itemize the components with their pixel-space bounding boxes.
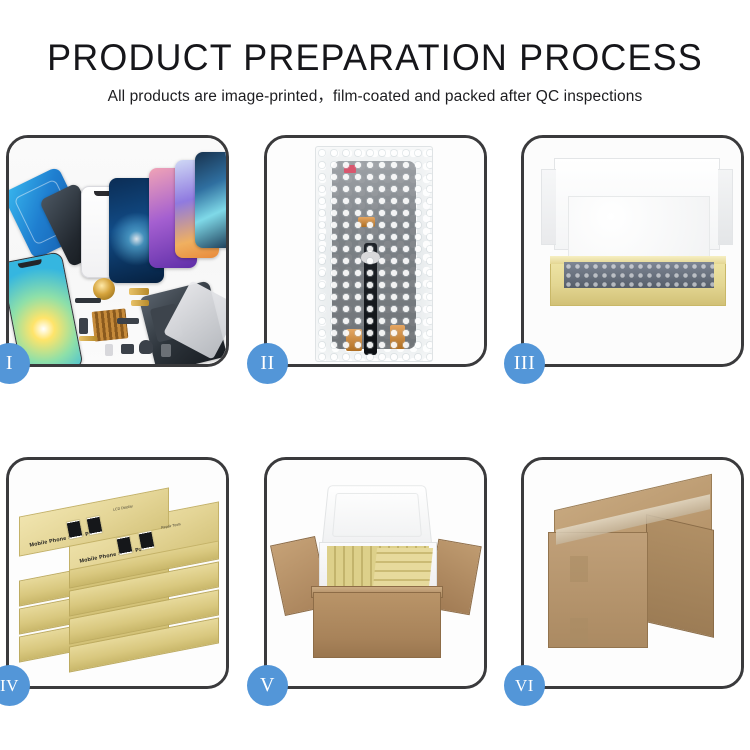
step-4-image: Mobile Phone Spare Parts Mobile Phone Sp…: [9, 460, 226, 686]
bubble-contents-icon: [564, 262, 714, 288]
step-panel-6: VI: [521, 457, 744, 689]
part-battery-icon: [161, 344, 171, 357]
step-6-image: [524, 460, 741, 686]
carton-side-icon: [646, 514, 714, 638]
yellow-boxes-row2-icon: [373, 548, 433, 588]
step-panel-2: II: [264, 135, 487, 367]
page-subtitle: All products are image-printed，film-coat…: [0, 87, 750, 107]
step-panel-3: III: [521, 135, 744, 367]
step-badge-2: II: [247, 343, 288, 384]
bubble-bag-icon: [315, 146, 433, 362]
part-motor-icon: [139, 340, 153, 354]
step-panel-5: V: [264, 457, 487, 689]
process-row-1: I II: [0, 135, 750, 368]
tape-tab-upper-icon: [570, 556, 588, 582]
step-panel-4: Mobile Phone Spare Parts Mobile Phone Sp…: [6, 457, 229, 689]
foam-sheet-icon: [568, 196, 710, 264]
speaker-coil-icon: [93, 278, 115, 300]
tape-tab-lower-icon: [570, 618, 588, 644]
step-panel-1: I: [6, 135, 229, 367]
product-preparation-infographic: PRODUCT PREPARATION PROCESS All products…: [0, 0, 750, 750]
carton-front-icon: [313, 592, 441, 658]
step-badge-6: VI: [504, 665, 545, 706]
part-connector-icon: [79, 336, 97, 341]
carton-face-icon: [548, 532, 648, 648]
part-button-icon: [121, 344, 134, 354]
page-title: PRODUCT PREPARATION PROCESS: [11, 36, 739, 80]
teal-display-icon: [195, 152, 226, 248]
part-flex2-icon: [131, 300, 149, 306]
part-sim-icon: [105, 344, 113, 356]
header: PRODUCT PREPARATION PROCESS All products…: [0, 0, 750, 107]
box-stack-icon: Mobile Phone Spare Parts Mobile Phone Sp…: [13, 474, 226, 680]
part-bracket-icon: [75, 298, 101, 303]
step-1-image: [9, 138, 226, 364]
process-row-2: Mobile Phone Spare Parts Mobile Phone Sp…: [0, 457, 750, 690]
step-badge-5: V: [247, 665, 288, 706]
chip-grid-icon: [92, 308, 129, 341]
foam-lid-icon: [322, 485, 433, 546]
bubble-texture: [316, 147, 432, 361]
process-grid: I II: [0, 135, 750, 690]
part-shield-icon: [117, 318, 139, 324]
step-2-image: [267, 138, 484, 364]
step-5-image: [267, 460, 484, 686]
step-badge-3: III: [504, 343, 545, 384]
part-camera-icon: [79, 318, 88, 334]
step-3-image: [524, 138, 741, 364]
part-flex-icon: [129, 288, 149, 295]
